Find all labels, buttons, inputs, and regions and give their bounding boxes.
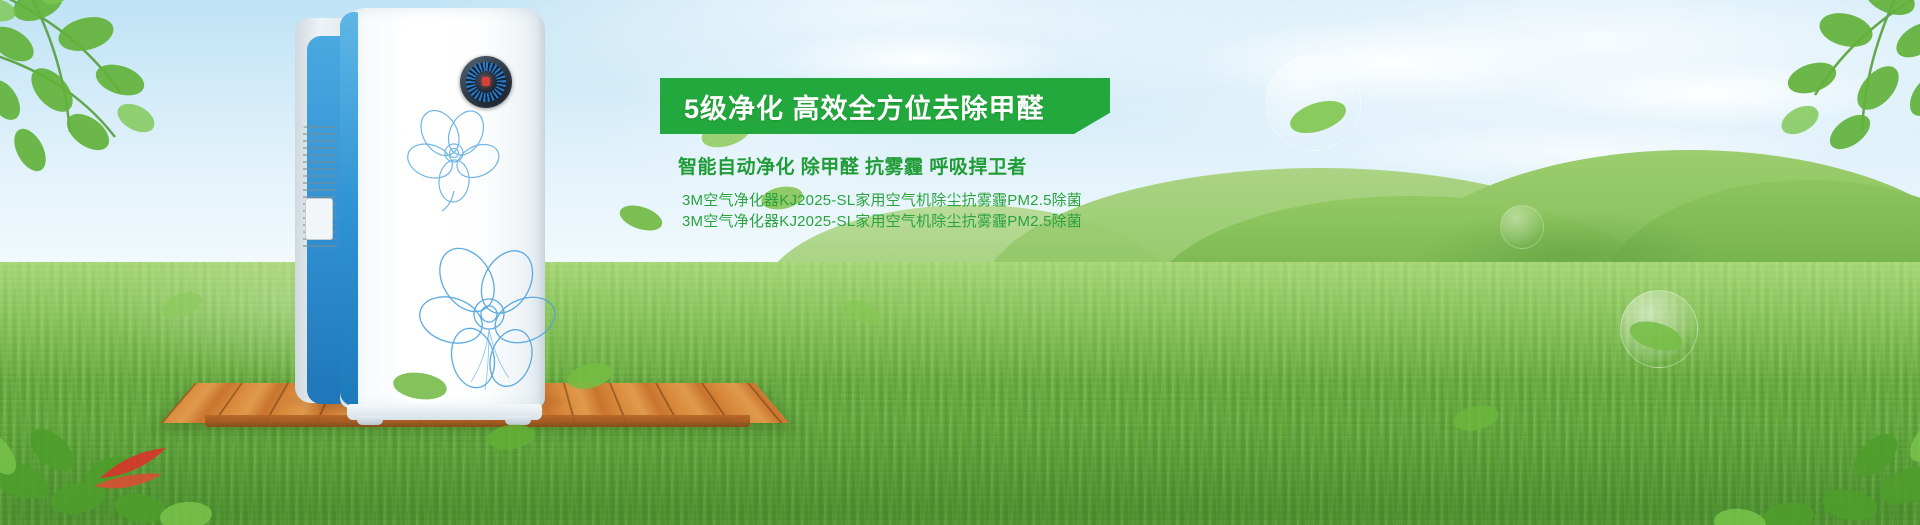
control-panel[interactable] bbox=[460, 56, 512, 108]
air-purifier bbox=[295, 8, 555, 418]
product-label bbox=[305, 198, 333, 240]
description-list: 3M空气净化器KJ2025-SL家用空气机除尘抗雾霾PM2.5除菌 3M空气净化… bbox=[682, 190, 1260, 232]
bokeh-circle bbox=[1620, 290, 1698, 368]
purifier-foot bbox=[505, 416, 531, 425]
subtitle-text: 智能自动净化 除甲醛 抗雾霾 呼吸捍卫者 bbox=[678, 152, 1260, 179]
promotional-banner: 5级净化 高效全方位去除甲醛 智能自动净化 除甲醛 抗雾霾 呼吸捍卫者 3M空气… bbox=[0, 0, 1920, 525]
bokeh-circle bbox=[1500, 205, 1544, 249]
power-indicator-icon bbox=[482, 77, 490, 86]
purifier-blue-stripe bbox=[340, 12, 358, 406]
description-line: 3M空气净化器KJ2025-SL家用空气机除尘抗雾霾PM2.5除菌 bbox=[682, 211, 1260, 232]
body-gloss bbox=[398, 14, 458, 404]
promo-text-block: 5级净化 高效全方位去除甲醛 智能自动净化 除甲醛 抗雾霾 呼吸捍卫者 3M空气… bbox=[660, 78, 1260, 232]
bokeh-circle bbox=[1265, 55, 1361, 151]
purifier-foot bbox=[357, 416, 383, 425]
grass-foreground-blur bbox=[0, 430, 1920, 525]
purifier-body bbox=[340, 8, 545, 408]
headline-text: 5级净化 高效全方位去除甲醛 bbox=[684, 87, 1045, 126]
description-line: 3M空气净化器KJ2025-SL家用空气机除尘抗雾霾PM2.5除菌 bbox=[682, 190, 1260, 211]
headline-ribbon: 5级净化 高效全方位去除甲醛 bbox=[660, 78, 1110, 134]
